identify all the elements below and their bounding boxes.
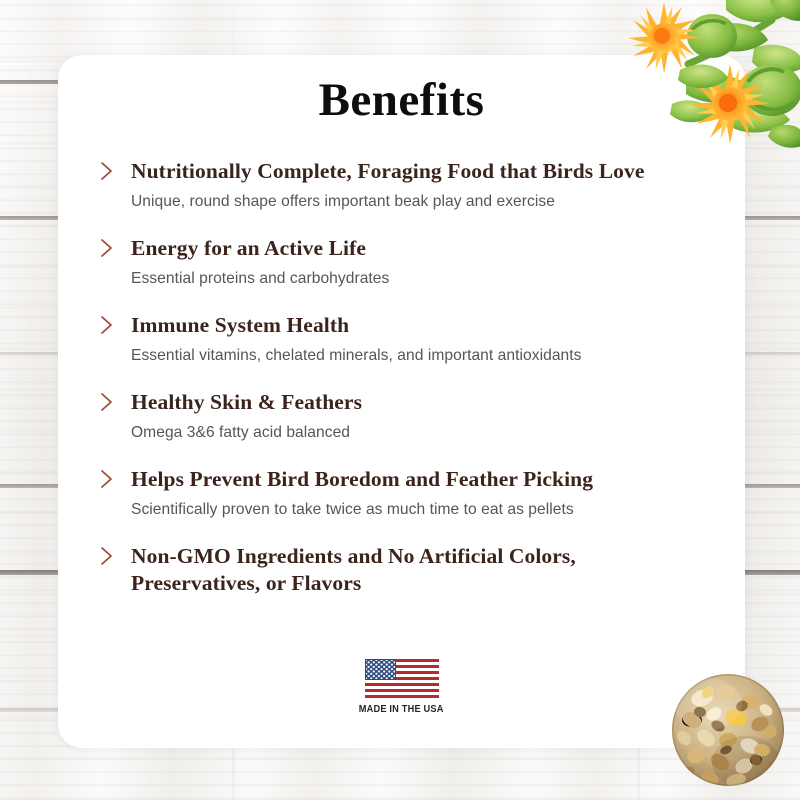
benefit-subtext: Omega 3&6 fatty acid balanced [131,422,721,444]
chevron-right-icon [97,160,117,182]
benefit-item: Nutritionally Complete, Foraging Food th… [97,158,721,213]
made-in-usa-label: MADE IN THE USA [359,703,444,715]
benefit-item: Immune System Health Essential vitamins,… [97,312,721,367]
benefit-heading: Immune System Health [131,312,721,339]
chevron-right-icon [97,237,117,259]
benefit-item: Healthy Skin & Feathers Omega 3&6 fatty … [97,389,721,444]
benefit-item: Energy for an Active Life Essential prot… [97,235,721,290]
benefit-heading: Non-GMO Ingredients and No Artificial Co… [131,543,631,597]
benefit-subtext: Essential proteins and carbohydrates [131,268,721,290]
product-benefits-graphic: Benefits Nutritionally Complete, Foragin… [0,0,800,800]
flag-canton [365,659,396,680]
chevron-right-icon [97,314,117,336]
benefits-list: Nutritionally Complete, Foraging Food th… [97,158,721,597]
benefit-subtext: Unique, round shape offers important bea… [131,191,721,213]
benefit-heading: Energy for an Active Life [131,235,721,262]
usa-flag-icon [365,659,439,698]
page-title: Benefits [58,73,745,127]
flag-stars [366,660,395,679]
benefit-subtext: Essential vitamins, chelated minerals, a… [131,345,721,367]
benefit-item: Non-GMO Ingredients and No Artificial Co… [97,543,721,597]
benefits-card: Benefits Nutritionally Complete, Foragin… [58,55,745,748]
benefit-heading: Nutritionally Complete, Foraging Food th… [131,158,721,185]
chevron-right-icon [97,468,117,490]
benefit-item: Helps Prevent Bird Boredom and Feather P… [97,466,721,521]
chevron-right-icon [97,545,117,567]
benefit-heading: Healthy Skin & Feathers [131,389,721,416]
benefit-heading: Helps Prevent Bird Boredom and Feather P… [131,466,721,493]
benefit-subtext: Scientifically proven to take twice as m… [131,499,721,521]
made-in-usa-badge: MADE IN THE USA [58,659,745,715]
chevron-right-icon [97,391,117,413]
